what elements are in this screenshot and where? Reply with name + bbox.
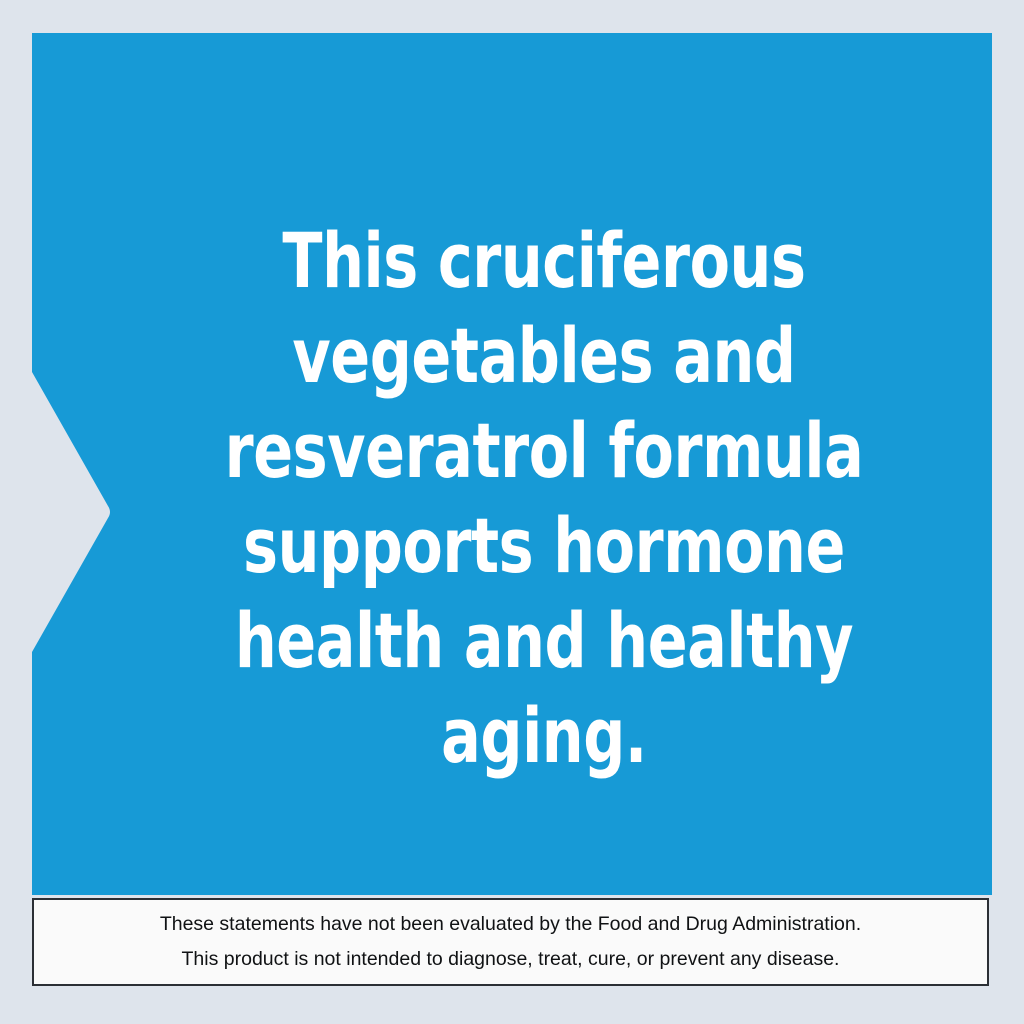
headline-panel: This cruciferous vegetables and resverat… bbox=[32, 33, 992, 895]
disclaimer-line-1: These statements have not been evaluated… bbox=[160, 907, 861, 942]
page-title: This cruciferous vegetables and resverat… bbox=[131, 213, 957, 783]
disclaimer-line-2: This product is not intended to diagnose… bbox=[182, 942, 840, 977]
fda-disclaimer: These statements have not been evaluated… bbox=[32, 898, 989, 986]
promo-card: This cruciferous vegetables and resverat… bbox=[0, 0, 1024, 1024]
